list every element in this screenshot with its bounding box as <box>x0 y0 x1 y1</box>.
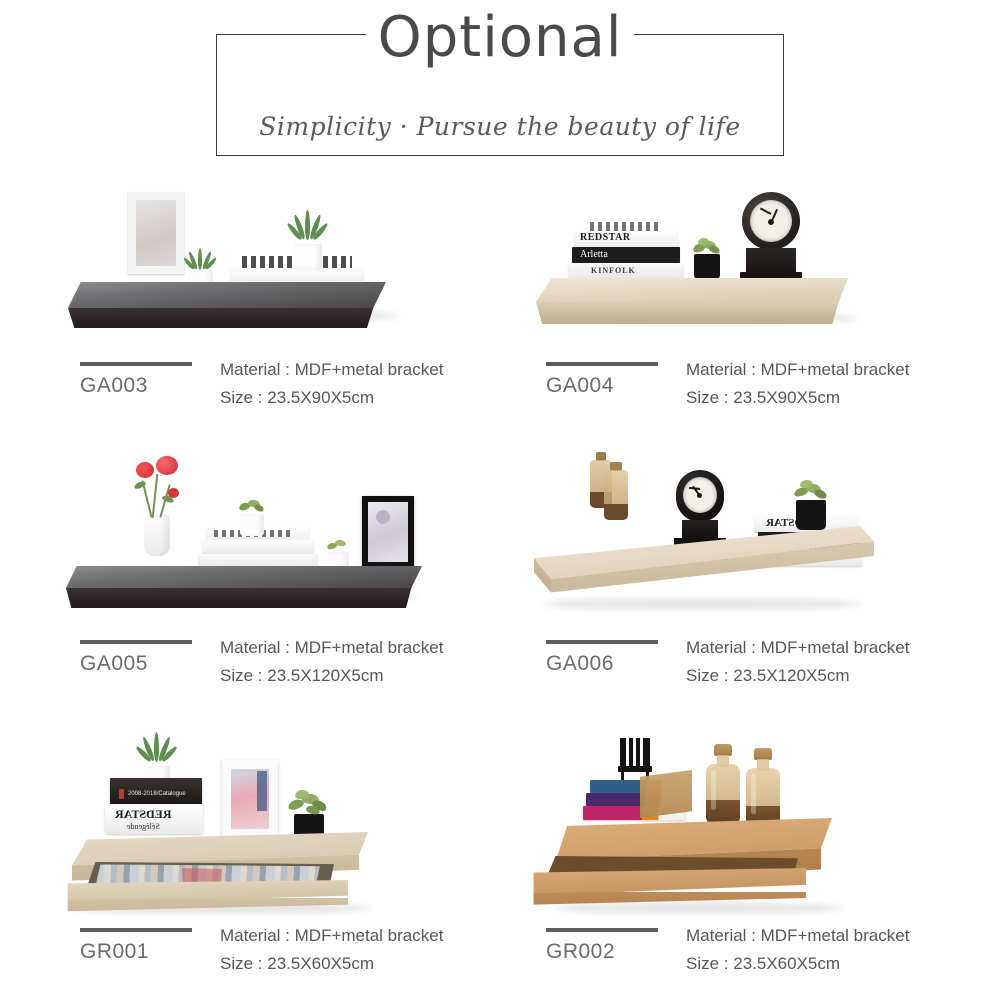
product-code: GR001 <box>80 940 149 964</box>
white-vase-red-poppies-icon <box>122 454 192 558</box>
caption-gr001: GR001 Material : MDF+metal bracket Size … <box>70 922 530 992</box>
product-grid: GA003 Material : MDF+metal bracket Size … <box>0 170 1000 1004</box>
caption-ga006: GA006 Material : MDF+metal bracket Size … <box>536 634 996 704</box>
product-code: GA003 <box>80 374 148 398</box>
product-code: GR002 <box>546 940 615 964</box>
product-size: Size : 23.5X120X5cm <box>220 662 540 690</box>
caption-ga004: GA004 Material : MDF+metal bracket Size … <box>536 356 996 426</box>
product-size: Size : 23.5X90X5cm <box>220 384 540 412</box>
white-photo-frame-icon <box>128 192 184 274</box>
product-photo-ga006: REDSTAR Arletta KINFOLK <box>528 448 988 633</box>
product-row-1: GA003 Material : MDF+metal bracket Size … <box>0 170 1000 448</box>
product-photo-ga005 <box>62 448 522 633</box>
product-card-ga003[interactable]: GA003 Material : MDF+metal bracket Size … <box>62 170 532 448</box>
product-card-ga004[interactable]: REDSTAR Arletta KINFOLK <box>528 170 998 448</box>
open-drawer-gr002[interactable] <box>528 852 828 918</box>
product-material: Material : MDF+metal bracket <box>686 634 1000 662</box>
header-banner: Optional Simplicity · Pursue the beauty … <box>216 34 784 156</box>
caption-ga003: GA003 Material : MDF+metal bracket Size … <box>70 356 530 426</box>
open-drawer-gr001[interactable] <box>62 860 362 920</box>
product-size: Size : 23.5X90X5cm <box>686 384 1000 412</box>
product-photo-gr002 <box>528 726 988 922</box>
product-card-ga005[interactable]: GA005 Material : MDF+metal bracket Size … <box>62 448 532 726</box>
caption-rule <box>546 640 658 644</box>
product-code: GA006 <box>546 652 614 676</box>
page-title: Optional <box>216 10 784 66</box>
product-row-2: GA005 Material : MDF+metal bracket Size … <box>0 448 1000 726</box>
white-photo-frame-icon <box>222 760 278 838</box>
product-size: Size : 23.5X120X5cm <box>686 662 1000 690</box>
cork-glass-bottle-right-icon <box>746 748 780 828</box>
shelf-slab-ga005 <box>66 566 422 588</box>
glass-bottle-front-icon <box>604 462 628 520</box>
shelf-slab-ga006 <box>534 526 874 596</box>
caption-rule <box>546 362 658 366</box>
page-subtitle: Simplicity · Pursue the beauty of life <box>216 112 784 141</box>
product-material: Material : MDF+metal bracket <box>220 356 540 384</box>
product-card-ga006[interactable]: REDSTAR Arletta KINFOLK <box>528 448 998 726</box>
caption-rule <box>546 928 658 932</box>
product-photo-ga004: REDSTAR Arletta KINFOLK <box>528 170 988 355</box>
vintage-mantel-clock-icon <box>740 192 802 280</box>
cork-glass-bottle-left-icon <box>706 744 740 824</box>
shelf-slab-ga003 <box>68 282 386 308</box>
product-size: Size : 23.5X60X5cm <box>686 950 1000 978</box>
caption-gr002: GR002 Material : MDF+metal bracket Size … <box>536 922 996 992</box>
caption-ga005: GA005 Material : MDF+metal bracket Size … <box>70 634 530 704</box>
black-photo-frame-icon <box>362 496 414 568</box>
product-row-3: 2008-2018/Catalogue REDSTAR Sélégende <box>0 726 1000 1004</box>
product-catalog-page: Optional Simplicity · Pursue the beauty … <box>0 0 1000 1000</box>
product-material: Material : MDF+metal bracket <box>686 922 1000 950</box>
white-book-redstar: REDSTAR Sélégende <box>105 804 203 834</box>
book-arletta: Arletta <box>572 247 680 263</box>
caption-rule <box>80 928 192 932</box>
product-material: Material : MDF+metal bracket <box>220 634 540 662</box>
product-card-gr001[interactable]: 2008-2018/Catalogue REDSTAR Sélégende <box>62 726 532 1004</box>
product-photo-ga003 <box>62 170 522 355</box>
product-code: GA004 <box>546 374 614 398</box>
book-kinfolk: KINFOLK <box>569 263 683 279</box>
caption-rule <box>80 640 192 644</box>
product-material: Material : MDF+metal bracket <box>686 356 1000 384</box>
product-photo-gr001: 2008-2018/Catalogue REDSTAR Sélégende <box>62 726 522 922</box>
book-redstar: REDSTAR <box>574 230 678 247</box>
product-material: Material : MDF+metal bracket <box>220 922 540 950</box>
caption-rule <box>80 362 192 366</box>
product-size: Size : 23.5X60X5cm <box>220 950 540 978</box>
shelf-slab-ga004 <box>536 278 848 302</box>
product-code: GA005 <box>80 652 148 676</box>
product-card-gr002[interactable]: GR002 Material : MDF+metal bracket Size … <box>528 726 998 1004</box>
black-book: 2008-2018/Catalogue <box>110 778 202 804</box>
